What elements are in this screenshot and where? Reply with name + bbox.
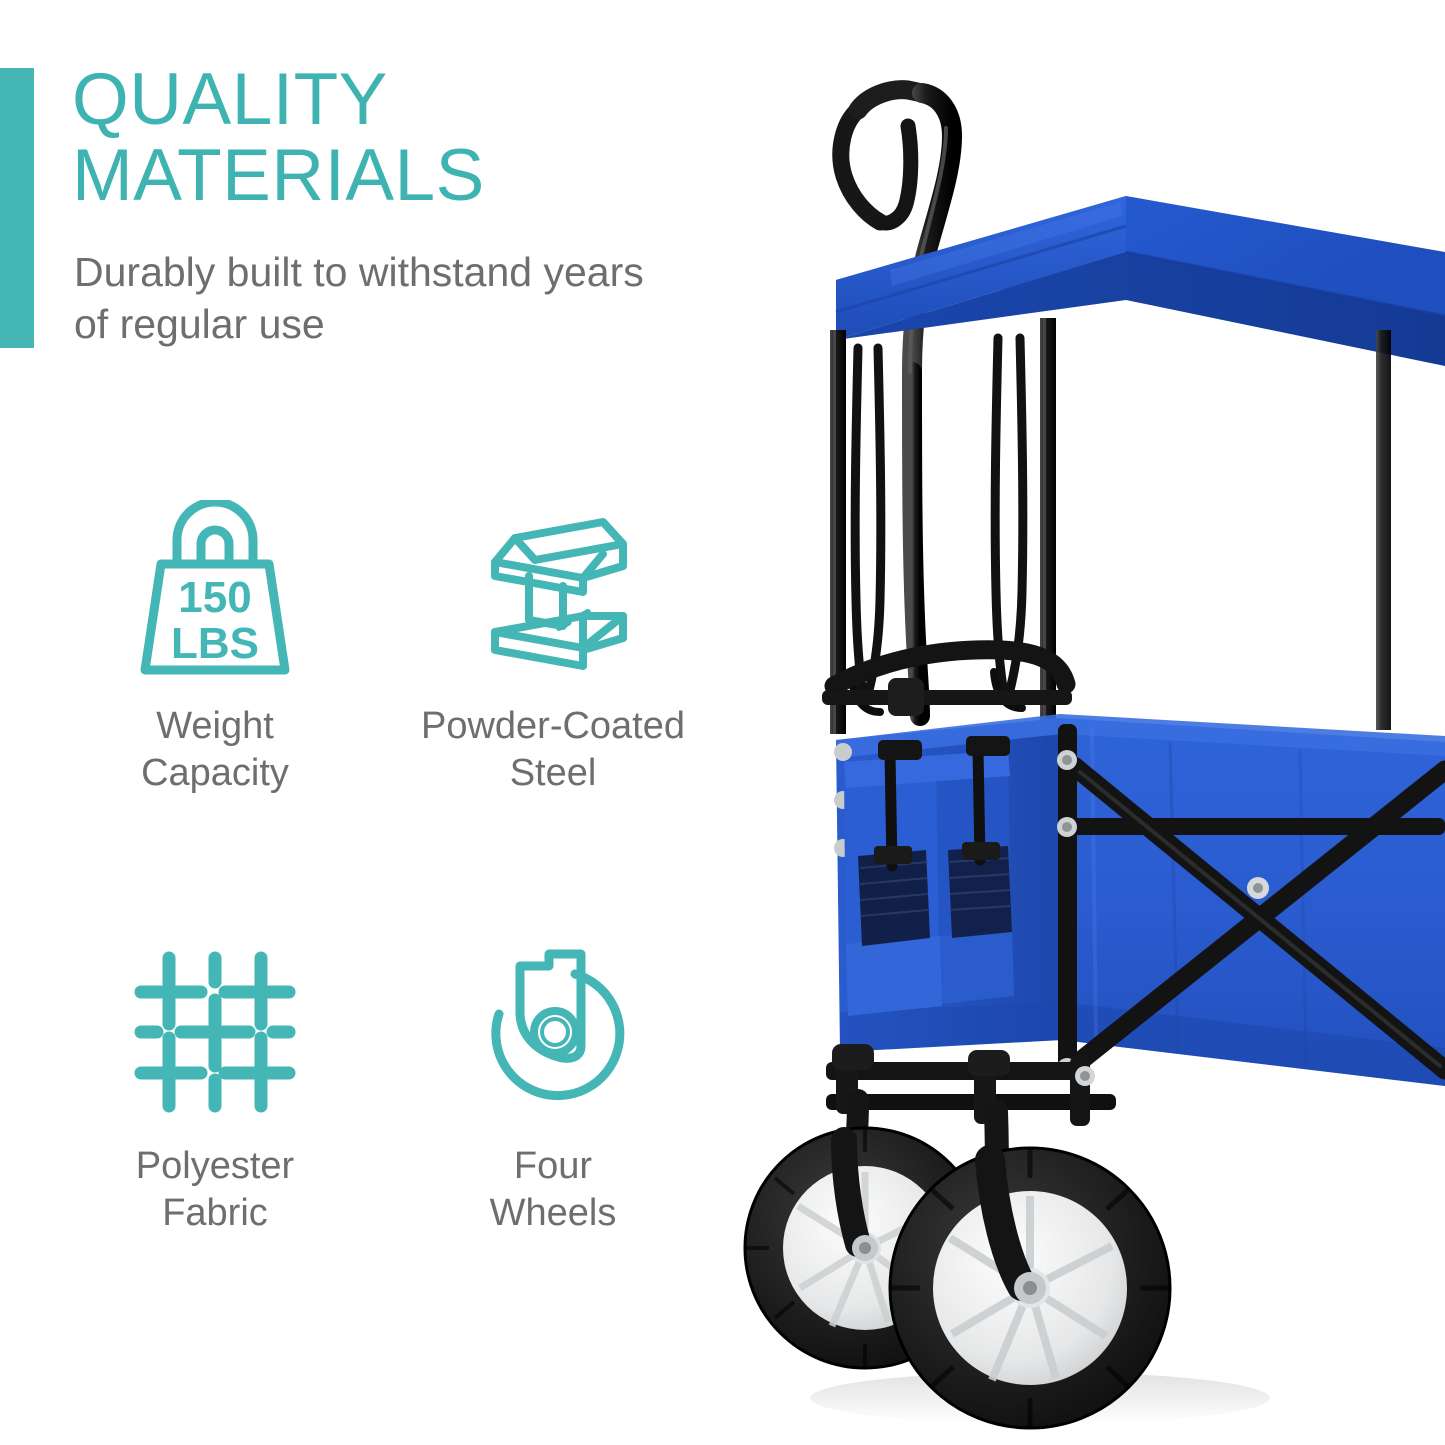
feature-label: Weight Capacity [50, 703, 380, 797]
feature-label-line-1: Weight [50, 703, 380, 750]
feature-four-wheels: Four Wheels [388, 935, 718, 1237]
woven-fabric-icon [50, 935, 380, 1125]
front-axle-bolt-center [1023, 1281, 1037, 1295]
feature-label-line-1: Polyester [50, 1143, 380, 1190]
feature-label-line-1: Powder-Coated [388, 703, 718, 750]
feature-label: Polyester Fabric [50, 1143, 380, 1237]
subheadline-line-1: Durably built to withstand [74, 249, 532, 295]
page-title: QUALITY MATERIALS [72, 62, 672, 214]
weight-value-150: 150 [178, 573, 251, 622]
folding-wagon-illustration [740, 0, 1445, 1445]
headline-line-2: MATERIALS [72, 138, 672, 214]
weight-unit-lbs: LBS [171, 619, 259, 668]
feature-weight-capacity: 150 LBS Weight Capacity [50, 495, 380, 797]
feature-label-line-1: Four [388, 1143, 718, 1190]
feature-grid: 150 LBS Weight Capacity [40, 495, 740, 1285]
accent-bar [0, 68, 34, 348]
weight-bag-icon: 150 LBS [50, 495, 380, 685]
feature-label-line-2: Fabric [50, 1190, 380, 1237]
feature-powder-coated-steel: Powder-Coated Steel [388, 495, 718, 797]
rear-axle-bolt-center [859, 1242, 871, 1254]
feature-label-line-2: Steel [388, 750, 718, 797]
product-image [740, 0, 1445, 1445]
caster-wheel-icon [388, 935, 718, 1125]
subheadline: Durably built to withstand years of regu… [74, 246, 674, 350]
i-beam-icon [388, 495, 718, 685]
feature-label-line-2: Wheels [388, 1190, 718, 1237]
headline-line-1: QUALITY [72, 59, 388, 140]
feature-polyester-fabric: Polyester Fabric [50, 935, 380, 1237]
infographic-canvas: QUALITY MATERIALS Durably built to withs… [0, 0, 1445, 1445]
rear-wheel-fork [844, 1140, 858, 1244]
feature-label-line-2: Capacity [50, 750, 380, 797]
feature-label: Four Wheels [388, 1143, 718, 1237]
feature-label: Powder-Coated Steel [388, 703, 718, 797]
